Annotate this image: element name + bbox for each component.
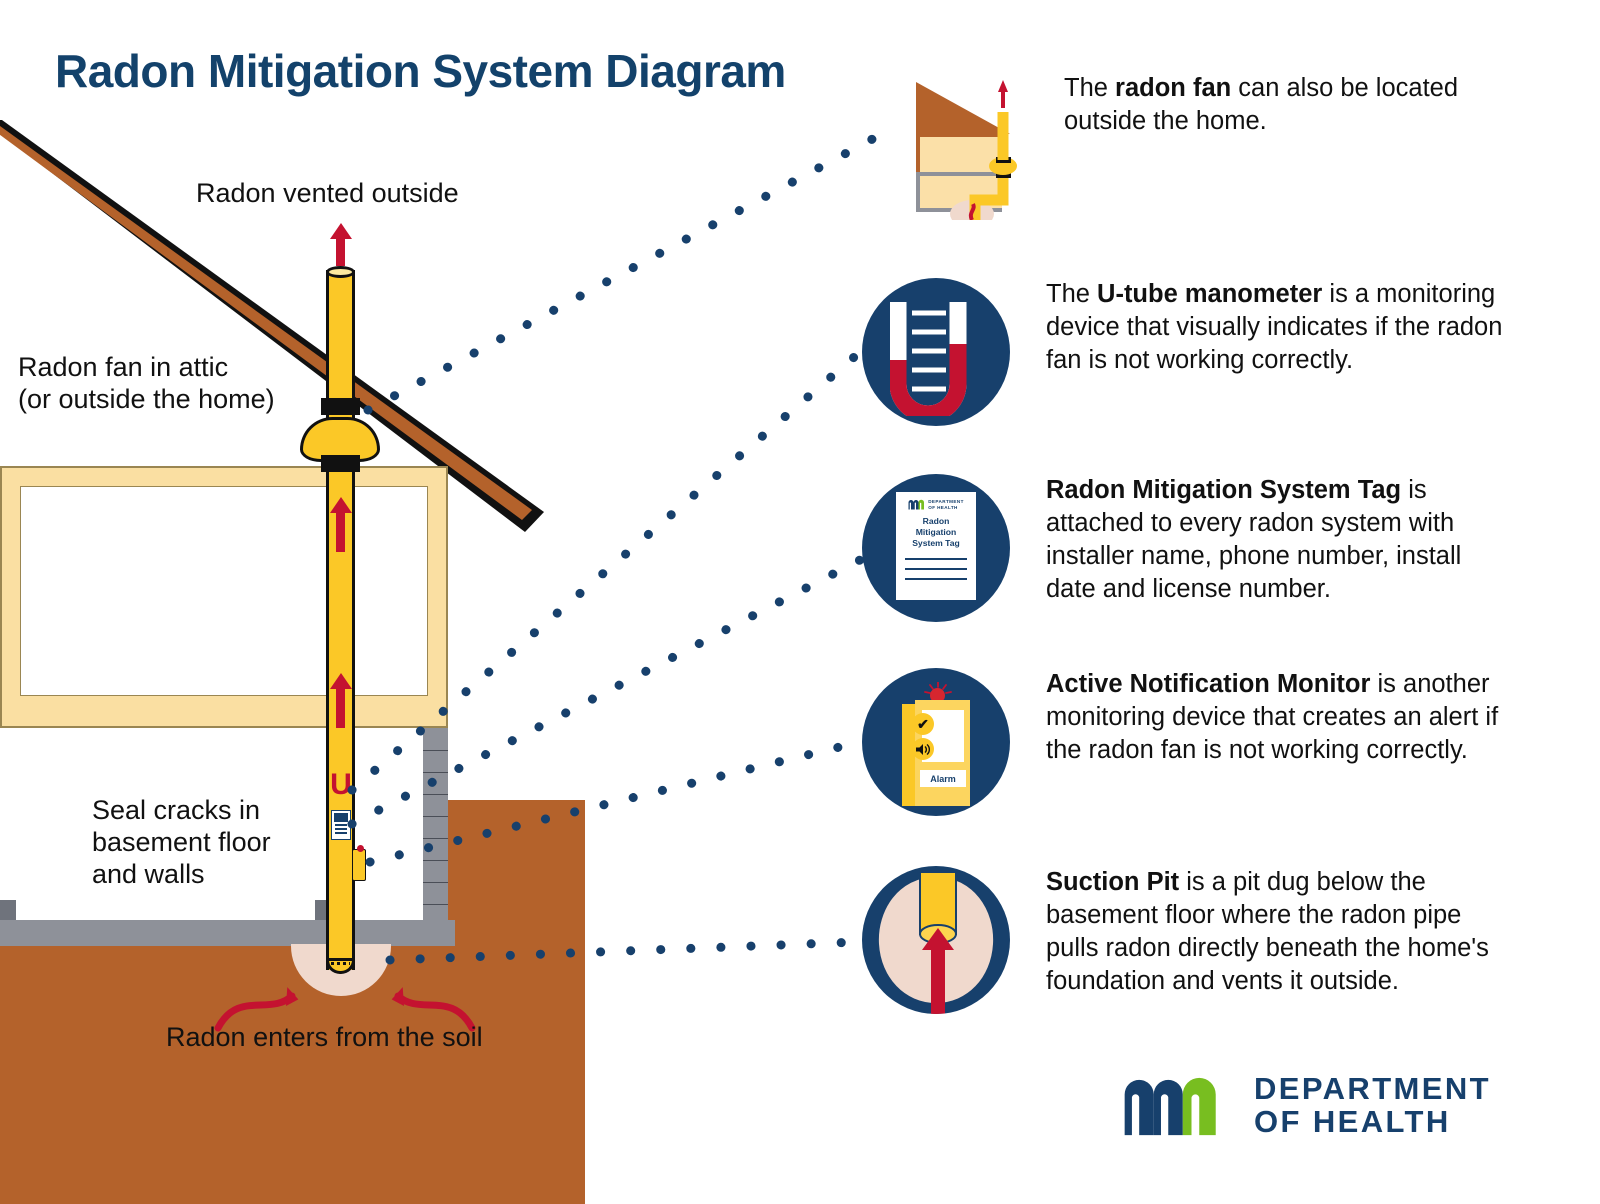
speaker-icon — [912, 738, 934, 760]
radon-pipe — [326, 270, 355, 970]
text-bold-term: Suction Pit — [1046, 868, 1179, 896]
suction-pit-icon — [862, 866, 1010, 1014]
alarm-monitor-icon: ✔ Alarm — [862, 668, 1010, 816]
alarm-label: Alarm — [920, 770, 966, 787]
tag-blank-lines — [902, 558, 970, 580]
callout-radon-fan: The radon fan can also be located outsid… — [880, 72, 1536, 220]
radon-system-tag-icon: DEPARTMENT OF HEALTH Radon Mitigation Sy… — [862, 474, 1010, 622]
text-prefix: The — [1064, 74, 1115, 102]
tag-document: DEPARTMENT OF HEALTH Radon Mitigation Sy… — [895, 491, 977, 601]
vent-arrow-shaft — [336, 236, 345, 266]
infographic-canvas: U Radon vented outside Radon fan in atti… — [0, 0, 1600, 1204]
callout-text-suction-pit: Suction Pit is a pit dug below the basem… — [1046, 866, 1518, 1014]
upper-floor — [0, 466, 448, 728]
flow-arrow-head-2 — [330, 673, 352, 689]
tag-logo-dept: DEPARTMENT OF HEALTH — [928, 499, 964, 510]
mdh-logo-mark-icon — [1122, 1075, 1230, 1137]
callout-text-u-tube-manometer: The U-tube manometer is a monitoring dev… — [1046, 278, 1518, 426]
pipe-top-opening — [326, 266, 355, 278]
label-seal-cracks: Seal cracks in basement floor and walls — [92, 795, 271, 891]
vent-arrow-head — [330, 223, 352, 239]
callout-text-radon-fan: The radon fan can also be located outsid… — [1064, 72, 1536, 220]
basement-footing-left — [0, 900, 16, 922]
text-prefix: The — [1046, 280, 1097, 308]
label-radon-fan-in-attic: Radon fan in attic (or outside the home) — [18, 352, 275, 416]
callout-text-system-tag: Radon Mitigation System Tag is attached … — [1046, 474, 1518, 622]
mdh-logo-wordmark: DEPARTMENT OF HEALTH — [1254, 1073, 1491, 1139]
logo-line-2: OF HEALTH — [1254, 1106, 1491, 1139]
label-radon-vented-outside: Radon vented outside — [196, 178, 459, 210]
callout-u-tube-manometer: The U-tube manometer is a monitoring dev… — [862, 278, 1518, 426]
basement-floor-slab — [0, 920, 455, 946]
flow-arrow-shaft-1 — [336, 510, 345, 552]
flow-arrow-head-1 — [330, 497, 352, 513]
u-tube-manometer-icon — [862, 278, 1010, 426]
page-title: Radon Mitigation System Diagram — [55, 44, 786, 98]
flow-arrow-shaft-2 — [336, 686, 345, 728]
mdh-logo-mark-icon — [908, 499, 925, 510]
callout-text-alarm-monitor: Active Notification Monitor is another m… — [1046, 668, 1518, 816]
text-bold-term: Active Notification Monitor — [1046, 670, 1370, 698]
text-bold-term: U-tube manometer — [1097, 280, 1322, 308]
inline-system-tag-icon — [331, 810, 351, 840]
tag-title: Radon Mitigation System Tag — [902, 516, 970, 548]
tag-mdh-logo: DEPARTMENT OF HEALTH — [902, 499, 970, 510]
logo-line-1: DEPARTMENT — [1254, 1073, 1491, 1106]
alarm-device: ✔ Alarm — [902, 690, 970, 806]
callout-system-tag: DEPARTMENT OF HEALTH Radon Mitigation Sy… — [862, 474, 1518, 622]
fan-coupling-bottom — [321, 455, 360, 472]
check-icon: ✔ — [912, 713, 934, 735]
upper-floor-interior — [20, 486, 428, 696]
fan-coupling-top — [321, 398, 360, 415]
callout-suction-pit: Suction Pit is a pit dug below the basem… — [862, 866, 1518, 1014]
inline-u-tube-manometer-icon: U — [331, 768, 351, 802]
mdh-footer-logo: DEPARTMENT OF HEALTH — [1122, 1060, 1462, 1152]
house-exterior-fan-icon — [880, 72, 1028, 220]
callout-alarm-monitor: ✔ Alarm Active Notification Monitor is a… — [862, 668, 1518, 816]
text-bold-term: radon fan — [1115, 74, 1231, 102]
label-radon-enters-from-soil: Radon enters from the soil — [166, 1022, 483, 1054]
text-bold-term: Radon Mitigation System Tag — [1046, 476, 1401, 504]
basement-block-wall — [423, 728, 448, 923]
inline-alarm-monitor-icon — [352, 849, 366, 881]
